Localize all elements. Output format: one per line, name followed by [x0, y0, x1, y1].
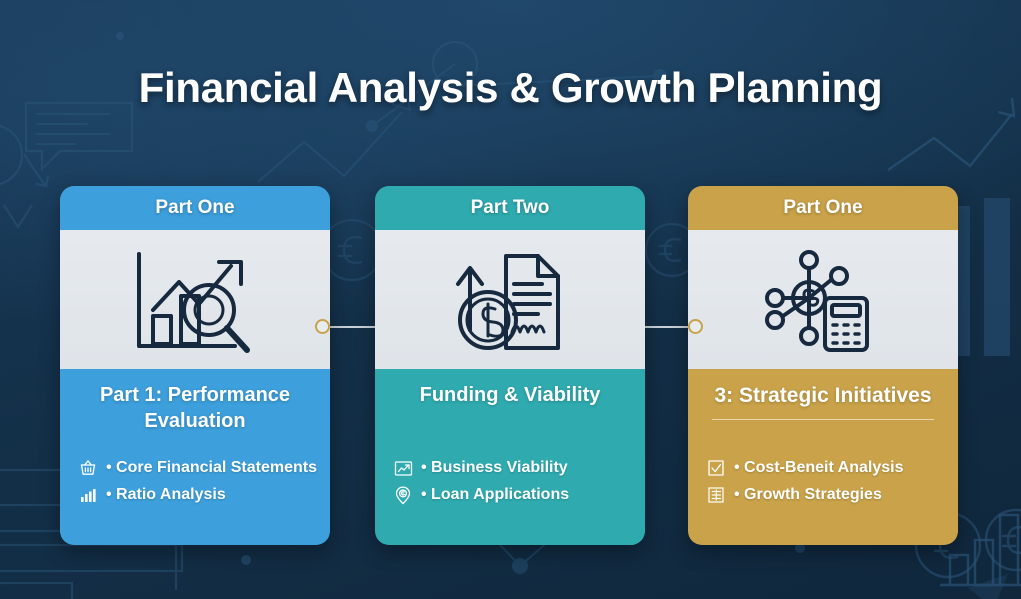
card-media-part-one [60, 230, 330, 369]
list-item: • Ratio Analysis [78, 485, 318, 505]
list-item: • Cost-Beneit Analysis [706, 458, 946, 478]
card-divider [712, 419, 934, 420]
card-title-part-two: Funding & Viability [387, 383, 633, 409]
pin-dollar-icon [393, 485, 413, 505]
checkbox-check-icon [706, 458, 726, 478]
list-item-label: • Ratio Analysis [106, 486, 226, 504]
list-item-label: • Core Financial Statements [106, 459, 317, 477]
card-part-two[interactable]: Part Two Funding & Viability [375, 186, 645, 545]
list-item: • Growth Strategies [706, 485, 946, 505]
list-item: • Loan Applications [393, 485, 633, 505]
connector-line-two-three [645, 326, 688, 328]
card-header-part-three: Part One [688, 186, 958, 230]
card-media-part-three [688, 230, 958, 369]
card-body-part-three: 3: Strategic Initiatives • Cost-Beneit A… [688, 369, 958, 545]
bar-chart-icon [78, 485, 98, 505]
list-item: • Business Viability [393, 458, 633, 478]
list-item: • Core Financial Statements [78, 458, 318, 478]
list-item-label: • Loan Applications [421, 486, 569, 504]
connector-node-one-two [315, 319, 330, 334]
slide-canvas: Financial Analysis & Growth Planning Par… [0, 0, 1021, 599]
card-bullets-part-one: • Core Financial Statements [72, 458, 318, 505]
card-bullets-part-two: • Business Viability • Loan Applications [387, 458, 633, 505]
network-calculator-icon [763, 244, 883, 356]
page-title: Financial Analysis & Growth Planning [0, 64, 1021, 112]
card-bullets-part-three: • Cost-Beneit Analysis • [700, 458, 946, 505]
card-header-part-two: Part Two [375, 186, 645, 230]
bar-chart-magnifier-icon [127, 244, 263, 356]
card-title-part-three: 3: Strategic Initiatives [700, 383, 946, 410]
card-title-part-one: Part 1: Performance Evaluation [72, 383, 318, 434]
card-body-part-one: Part 1: Performance Evaluation • Core Fi… [60, 369, 330, 545]
card-body-part-two: Funding & Viability • Business Viability [375, 369, 645, 545]
card-part-one[interactable]: Part One Part 1: Performance Evaluation [60, 186, 330, 545]
list-item-label: • Cost-Beneit Analysis [734, 459, 904, 477]
list-item-label: • Growth Strategies [734, 486, 882, 504]
connector-node-two-three [688, 319, 703, 334]
chart-frame-icon [393, 458, 413, 478]
connector-line-one-two [330, 326, 375, 328]
card-media-part-two [375, 230, 645, 369]
ledger-icon [706, 485, 726, 505]
document-coin-arrow-icon [448, 244, 572, 356]
card-part-three[interactable]: Part One [688, 186, 958, 545]
list-item-label: • Business Viability [421, 459, 568, 477]
basket-icon [78, 458, 98, 478]
card-header-part-one: Part One [60, 186, 330, 230]
